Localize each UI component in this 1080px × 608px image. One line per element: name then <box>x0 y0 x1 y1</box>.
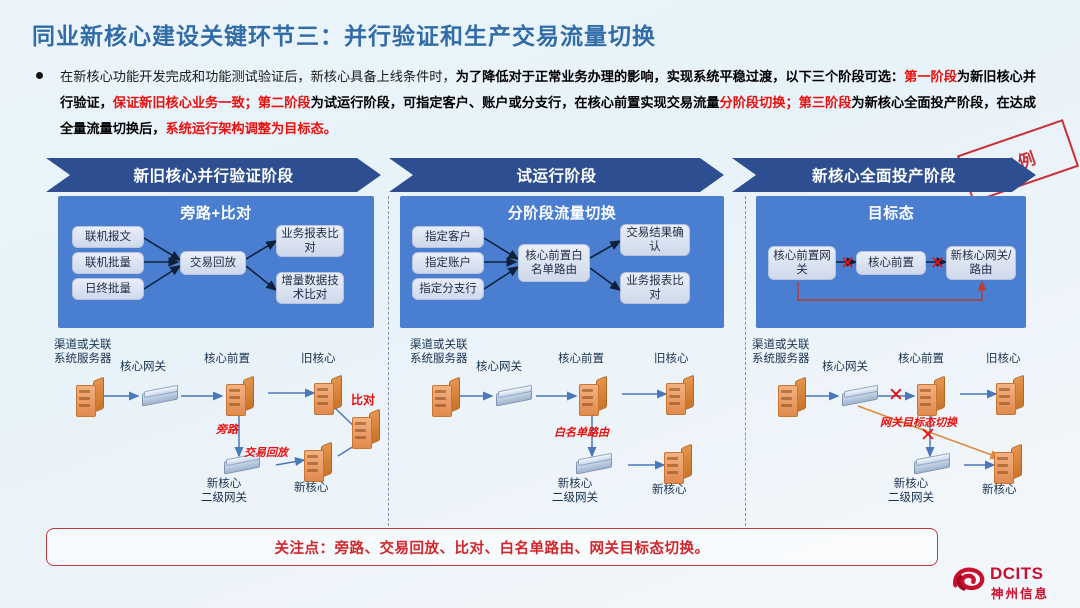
phase-3-x-icon-1: ✕ <box>840 254 855 272</box>
phase-banner-row: 新旧核心并行验证阶段 试运行阶段 新核心全面投产阶段 <box>46 158 1036 192</box>
phase-1-compare-label: 比对 <box>351 393 375 407</box>
phase-3-source-server-icon <box>778 381 804 415</box>
phase-1-new-core-server-icon <box>304 446 330 480</box>
phase-2-input-0[interactable]: 指定客户 <box>412 226 484 248</box>
slide-root: 同业新核心建设关键环节三：并行验证和生产交易流量切换 在新核心功能开发完成和功能… <box>0 0 1080 608</box>
column-separator-1 <box>388 196 389 526</box>
phase-3-chain-0[interactable]: 核心前置网关 <box>768 246 836 280</box>
phase-3-chain-1[interactable]: 核心前置 <box>856 251 926 275</box>
phase-1-flow-label-2: 交易回放 <box>244 446 288 460</box>
phase-3-source-label: 渠道或关联系统服务器 <box>752 338 810 366</box>
phase-1-output-0[interactable]: 业务报表比对 <box>276 225 344 257</box>
phase-2-new-core-label: 新核心 <box>652 483 687 497</box>
phase-3-frontend-label: 核心前置 <box>898 352 944 366</box>
phase-3-topology: 渠道或关联系统服务器 核心网关 核心前置 旧核心 ✕ ✕ 网关目标态切换 新核心… <box>752 338 1038 526</box>
phase-column-1: 旁路+比对 联机报文 联机批量 日终批量 交易回放 业务报表比对 增量数据技术比… <box>46 196 386 526</box>
phase-2-panel: 分阶段流量切换 指定客户 指定账户 指定分支行 核心前置白名单路由 交易结果确认… <box>400 196 724 328</box>
phase-1-input-1[interactable]: 联机批量 <box>72 252 144 274</box>
phase-1-old-core-label: 旧核心 <box>301 352 336 366</box>
phase-3-chain-2[interactable]: 新核心网关/路由 <box>946 246 1016 280</box>
para-seg-5: 保证新旧核心业务一致； <box>113 95 258 110</box>
company-logo: DCITS 神州信息 <box>952 562 1072 602</box>
para-seg-11: 系统运行架构调整为目标态。 <box>166 121 337 136</box>
phase-2-flow-label-1: 白名单路由 <box>554 426 609 440</box>
paragraph-text: 在新核心功能开发完成和功能测试验证后，新核心具备上线条件时，为了降低对于正常业务… <box>60 64 1036 142</box>
phase-1-input-0[interactable]: 联机报文 <box>72 226 144 248</box>
phase-1-compare-server-icon <box>352 413 378 447</box>
para-seg-3: 第一阶段 <box>904 69 957 84</box>
phase-1-frontend-server-icon <box>226 380 252 414</box>
phase-3-frontend-server-icon <box>917 380 943 414</box>
phase-2-gateway-label: 核心网关 <box>476 360 522 374</box>
phase-1-gateway-icon <box>142 388 178 405</box>
bullet-dot-icon <box>36 72 43 79</box>
phase-banner-1[interactable]: 新旧核心并行验证阶段 <box>46 158 381 192</box>
page-title: 同业新核心建设关键环节三：并行验证和生产交易流量切换 <box>32 17 656 51</box>
phase-2-topology: 渠道或关联系统服务器 核心网关 核心前置 旧核心 白名单路由 新核心二级网关 新… <box>396 338 736 526</box>
para-seg-2: 为了降低对于正常业务办理的影响，实现系统平稳过渡，以下三个阶段可选： <box>456 69 904 84</box>
phase-2-second-gateway-label: 新核心二级网关 <box>552 477 598 505</box>
phase-2-old-core-server-icon <box>666 379 692 413</box>
para-seg-8: 分阶段切换； <box>720 95 799 110</box>
phase-3-panel: 目标态 核心前置网关 核心前置 新核心网关/路由 ✕ ✕ <box>756 196 1026 328</box>
phase-2-input-1[interactable]: 指定账户 <box>412 252 484 274</box>
phase-1-source-label: 渠道或关联系统服务器 <box>54 338 112 366</box>
phase-2-new-core-server-icon <box>664 448 690 482</box>
phase-2-frontend-label: 核心前置 <box>558 352 604 366</box>
phase-1-second-gateway-label: 新核心二级网关 <box>201 477 247 505</box>
phase-3-flow-label-1: 网关目标态切换 <box>880 416 957 430</box>
phase-1-output-1[interactable]: 增量数据技术比对 <box>276 272 344 304</box>
phase-banner-2[interactable]: 试运行阶段 <box>389 158 724 192</box>
phase-1-gateway-label: 核心网关 <box>120 360 166 374</box>
phase-3-new-core-server-icon <box>994 448 1020 482</box>
phase-2-gateway-icon <box>496 388 532 405</box>
column-separator-2 <box>745 196 746 526</box>
phase-2-input-2[interactable]: 指定分支行 <box>412 278 484 300</box>
phase-1-topology: 渠道或关联系统服务器 核心网关 核心前置 旧核心 旁路 新核心二级网关 交易回放… <box>46 338 386 526</box>
key-points-note: 关注点：旁路、交易回放、比对、白名单路由、网关目标态切换。 <box>46 528 938 566</box>
phase-2-source-server-icon <box>432 381 458 415</box>
phase-3-second-gateway-label: 新核心二级网关 <box>888 477 934 505</box>
phase-3-second-gateway-icon <box>914 456 950 473</box>
logo-en-text: DCITS <box>990 564 1044 584</box>
logo-cn-text: 神州信息 <box>991 583 1049 602</box>
para-seg-7: 为试运行阶段，可指定客户、账户或分支行，在核心前置实现交易流量 <box>311 95 720 110</box>
phase-3-x-icon-2: ✕ <box>930 254 945 272</box>
phase-2-frontend-server-icon <box>579 380 605 414</box>
phase-3-old-core-server-icon <box>996 379 1022 413</box>
phase-1-new-core-label: 新核心 <box>294 481 329 495</box>
bullet-paragraph: 在新核心功能开发完成和功能测试验证后，新核心具备上线条件时，为了降低对于正常业务… <box>36 64 1036 142</box>
phase-column-2: 分阶段流量切换 指定客户 指定账户 指定分支行 核心前置白名单路由 交易结果确认… <box>396 196 736 526</box>
para-seg-1: 在新核心功能开发完成和功能测试验证后，新核心具备上线条件时， <box>60 69 456 84</box>
phase-2-middle[interactable]: 核心前置白名单路由 <box>518 244 590 282</box>
dcits-swoosh-icon <box>952 566 986 596</box>
phase-3-gateway-label: 核心网关 <box>822 360 868 374</box>
phase-1-panel: 旁路+比对 联机报文 联机批量 日终批量 交易回放 业务报表比对 增量数据技术比… <box>58 196 374 328</box>
phase-2-output-1[interactable]: 业务报表比对 <box>620 272 690 304</box>
phase-3-old-core-label: 旧核心 <box>986 352 1021 366</box>
para-seg-6: 第二阶段 <box>258 95 311 110</box>
phase-1-input-2[interactable]: 日终批量 <box>72 278 144 300</box>
phase-2-old-core-label: 旧核心 <box>654 352 689 366</box>
phase-2-second-gateway-icon <box>576 456 612 473</box>
phase-3-new-core-label: 新核心 <box>982 483 1017 497</box>
phase-1-old-core-server-icon <box>314 379 340 413</box>
phase-3-x-icon-1: ✕ <box>888 386 904 405</box>
phase-1-frontend-label: 核心前置 <box>204 352 250 366</box>
phase-1-middle[interactable]: 交易回放 <box>180 251 246 275</box>
phase-3-gateway-icon <box>842 388 878 405</box>
phase-2-output-0[interactable]: 交易结果确认 <box>620 224 690 256</box>
phase-column-3: 目标态 核心前置网关 核心前置 新核心网关/路由 ✕ ✕ <box>752 196 1038 526</box>
phase-banner-3[interactable]: 新核心全面投产阶段 <box>732 158 1036 192</box>
phase-1-source-server-icon <box>76 381 102 415</box>
phase-1-flow-label-1: 旁路 <box>216 423 238 437</box>
phase-2-source-label: 渠道或关联系统服务器 <box>410 338 468 366</box>
para-seg-9: 第三阶段 <box>799 95 852 110</box>
